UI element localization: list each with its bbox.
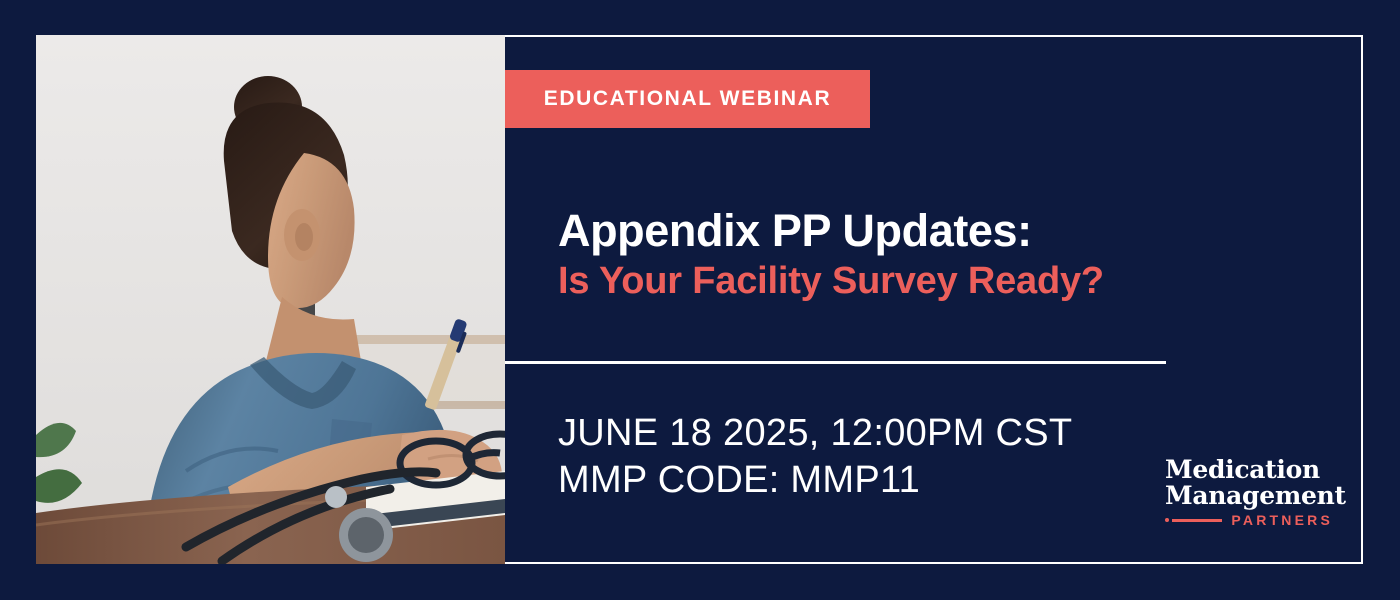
hero-photo <box>36 35 505 564</box>
headline-main: Appendix PP Updates: <box>558 205 1318 257</box>
brand-logo-line-icon <box>1172 519 1222 522</box>
brand-logo-line1: Medication <box>1165 457 1333 483</box>
brand-logo-rule: PARTNERS <box>1165 512 1333 528</box>
headline-subtitle: Is Your Facility Survey Ready? <box>558 257 1318 306</box>
section-divider <box>505 361 1166 364</box>
brand-logo-dot-icon <box>1165 518 1169 522</box>
schedule-datetime: JUNE 18 2025, 12:00PM CST <box>558 410 1072 457</box>
webinar-type-badge: EDUCATIONAL WEBINAR <box>505 70 870 128</box>
webinar-promo-banner: EDUCATIONAL WEBINAR Appendix PP Updates:… <box>0 0 1400 600</box>
headline-block: Appendix PP Updates: Is Your Facility Su… <box>558 205 1318 306</box>
brand-logo-line2: Management <box>1165 483 1333 509</box>
webinar-type-badge-label: EDUCATIONAL WEBINAR <box>544 87 831 111</box>
schedule-block: JUNE 18 2025, 12:00PM CST MMP CODE: MMP1… <box>558 410 1072 504</box>
brand-logo-tagline: PARTNERS <box>1225 512 1333 528</box>
hero-photo-illustration <box>36 35 505 564</box>
content-panel: EDUCATIONAL WEBINAR Appendix PP Updates:… <box>505 35 1363 564</box>
brand-logo: Medication Management PARTNERS <box>1165 457 1333 528</box>
schedule-mmp-code: MMP CODE: MMP11 <box>558 457 1072 504</box>
